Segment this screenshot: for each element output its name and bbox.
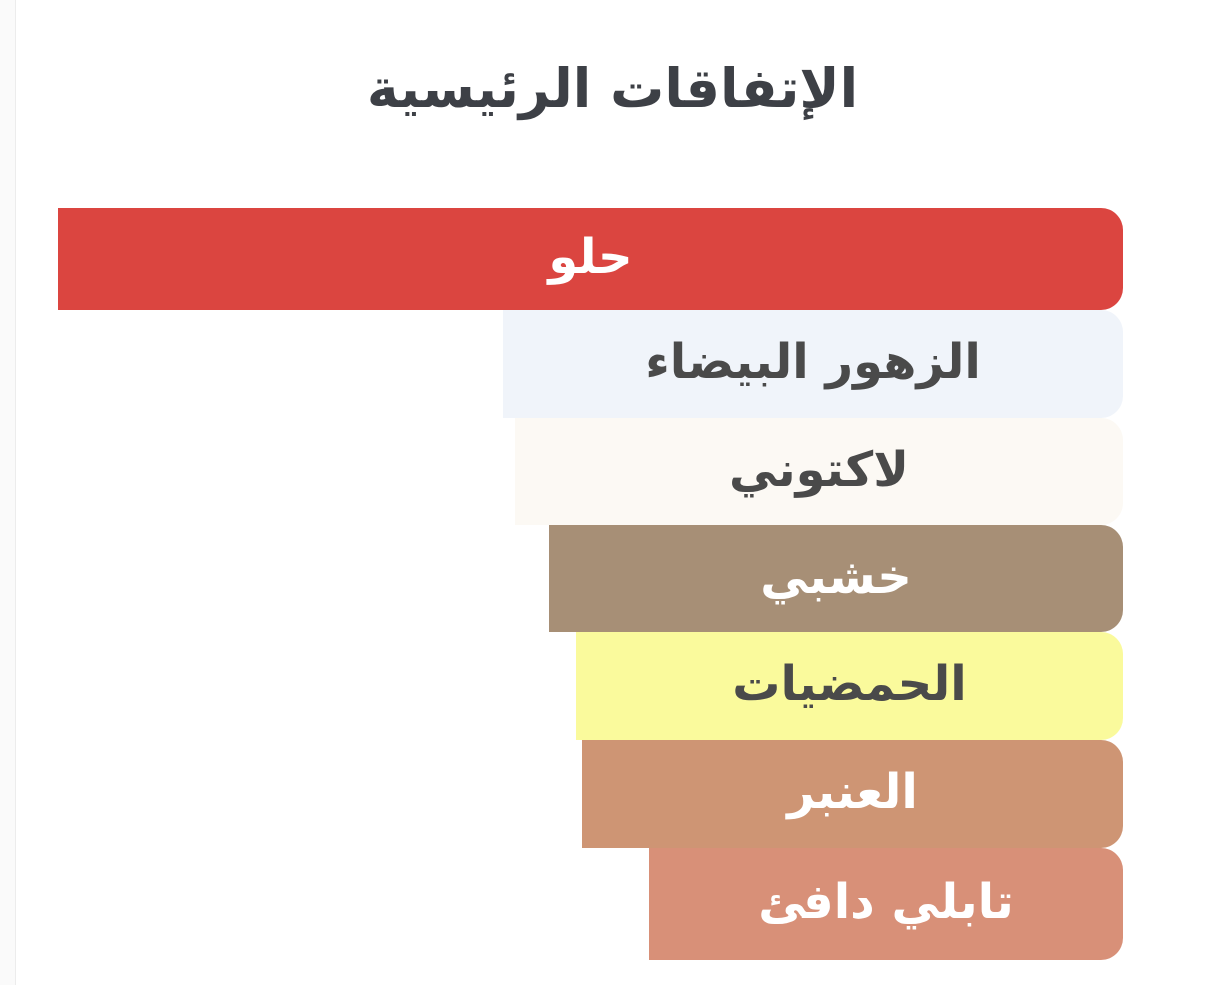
bar-7[interactable]: تابلي دافئ: [649, 848, 1123, 960]
bar-chart: حلوالزهور البيضاءلاكتونيخشبيالحمضياتالعن…: [0, 0, 1225, 985]
bar-label: خشبي: [760, 553, 912, 601]
bar-3[interactable]: لاكتوني: [515, 418, 1123, 525]
bar-label: لاكتوني: [729, 446, 909, 494]
bar-label: الحمضيات: [732, 660, 966, 708]
bar-label: الزهور البيضاء: [645, 338, 981, 386]
bar-label: العنبر: [787, 768, 918, 816]
bar-label: تابلي دافئ: [758, 878, 1013, 926]
bar-6[interactable]: العنبر: [582, 740, 1123, 848]
bar-label: حلو: [548, 233, 632, 281]
bar-4[interactable]: خشبي: [549, 525, 1123, 632]
bar-5[interactable]: الحمضيات: [576, 632, 1123, 740]
chart-page: الإتفاقات الرئيسية حلوالزهور البيضاءلاكت…: [0, 0, 1225, 985]
bar-1[interactable]: حلو: [58, 208, 1123, 310]
bar-2[interactable]: الزهور البيضاء: [503, 310, 1123, 418]
